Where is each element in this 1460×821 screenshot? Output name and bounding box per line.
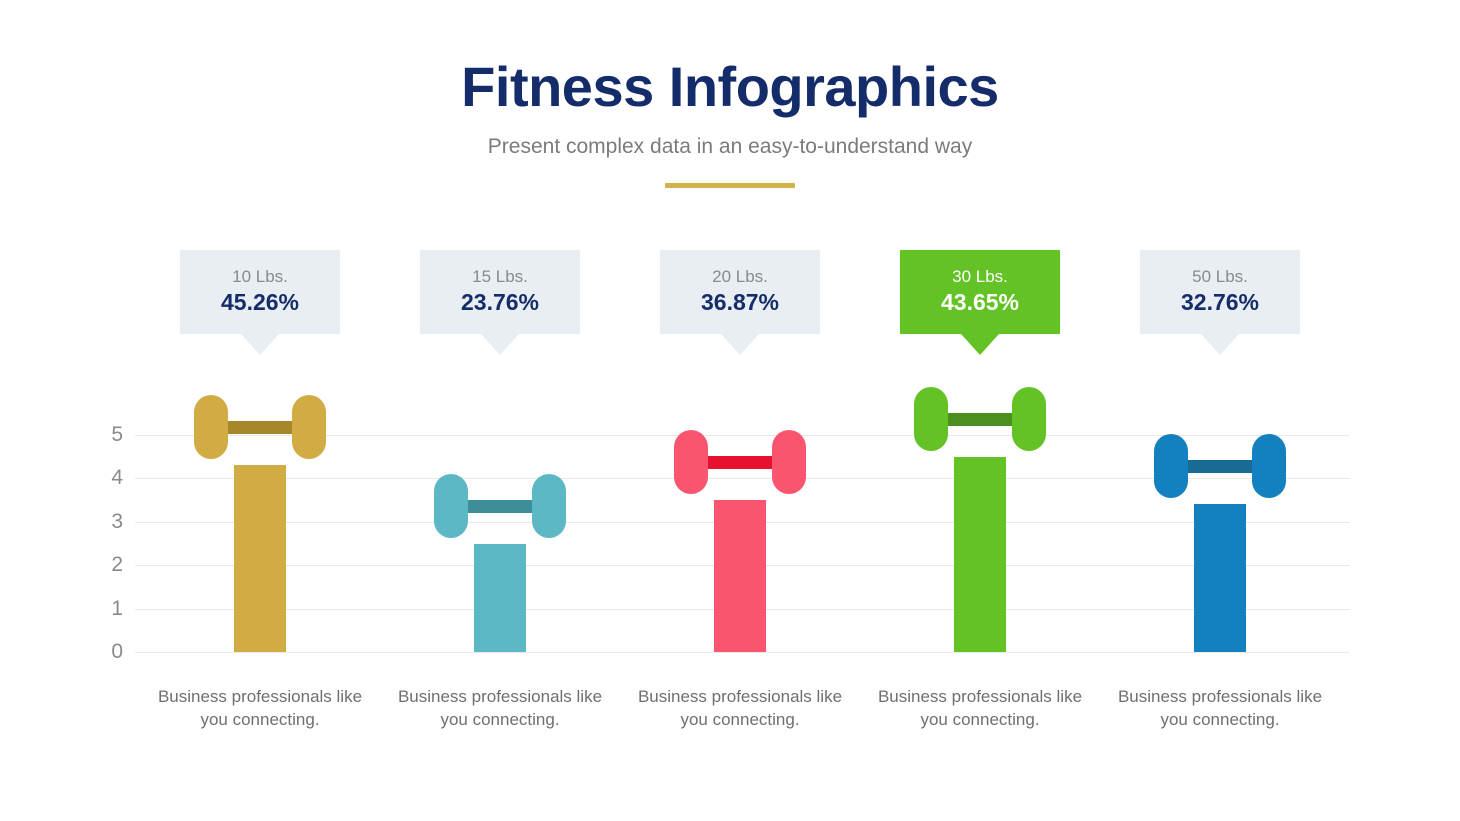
chart-column: 50 Lbs.32.76%Business professionals like…	[1100, 0, 1340, 821]
callout-percentage: 43.65%	[941, 289, 1019, 317]
value-callout[interactable]: 10 Lbs.45.26%	[180, 250, 340, 355]
callout-percentage: 36.87%	[701, 289, 779, 317]
y-axis-tick-label: 3	[83, 510, 123, 534]
callout-box: 15 Lbs.23.76%	[420, 250, 580, 334]
callout-percentage: 45.26%	[221, 289, 299, 317]
column-caption: Business professionals like you connecti…	[863, 686, 1097, 732]
callout-pointer	[961, 334, 999, 355]
column-caption: Business professionals like you connecti…	[143, 686, 377, 732]
chart-bar[interactable]	[1194, 504, 1246, 652]
value-callout[interactable]: 50 Lbs.32.76%	[1140, 250, 1300, 355]
callout-percentage: 23.76%	[461, 289, 539, 317]
value-callout[interactable]: 30 Lbs.43.65%	[900, 250, 1060, 355]
chart-column: 10 Lbs.45.26%Business professionals like…	[140, 0, 380, 821]
callout-pointer	[241, 334, 279, 355]
callout-box: 10 Lbs.45.26%	[180, 250, 340, 334]
callout-percentage: 32.76%	[1181, 289, 1259, 317]
chart-column: 30 Lbs.43.65%Business professionals like…	[860, 0, 1100, 821]
dumbbell-icon	[668, 426, 812, 498]
column-caption: Business professionals like you connecti…	[1103, 686, 1337, 732]
chart-bar[interactable]	[234, 465, 286, 652]
dumbbell-icon	[188, 391, 332, 463]
callout-box: 30 Lbs.43.65%	[900, 250, 1060, 334]
callout-weight-label: 10 Lbs.	[232, 267, 288, 287]
callout-pointer	[481, 334, 519, 355]
column-caption: Business professionals like you connecti…	[623, 686, 857, 732]
callout-weight-label: 15 Lbs.	[472, 267, 528, 287]
dumbbell-icon	[428, 470, 572, 542]
column-caption: Business professionals like you connecti…	[383, 686, 617, 732]
callout-weight-label: 20 Lbs.	[712, 267, 768, 287]
y-axis-tick-label: 2	[83, 553, 123, 577]
chart-column: 20 Lbs.36.87%Business professionals like…	[620, 0, 860, 821]
fitness-bar-chart: 543210 10 Lbs.45.26%Business professiona…	[0, 0, 1460, 821]
chart-bar[interactable]	[954, 457, 1006, 652]
y-axis-tick-label: 5	[83, 423, 123, 447]
callout-pointer	[721, 334, 759, 355]
callout-weight-label: 50 Lbs.	[1192, 267, 1248, 287]
chart-bar[interactable]	[714, 500, 766, 652]
y-axis-tick-label: 0	[83, 640, 123, 664]
y-axis-tick-label: 4	[83, 466, 123, 490]
callout-weight-label: 30 Lbs.	[952, 267, 1008, 287]
dumbbell-icon	[908, 383, 1052, 455]
callout-box: 50 Lbs.32.76%	[1140, 250, 1300, 334]
dumbbell-icon	[1148, 430, 1292, 502]
y-axis-tick-label: 1	[83, 597, 123, 621]
value-callout[interactable]: 15 Lbs.23.76%	[420, 250, 580, 355]
value-callout[interactable]: 20 Lbs.36.87%	[660, 250, 820, 355]
chart-bar[interactable]	[474, 544, 526, 653]
callout-pointer	[1201, 334, 1239, 355]
chart-column: 15 Lbs.23.76%Business professionals like…	[380, 0, 620, 821]
callout-box: 20 Lbs.36.87%	[660, 250, 820, 334]
